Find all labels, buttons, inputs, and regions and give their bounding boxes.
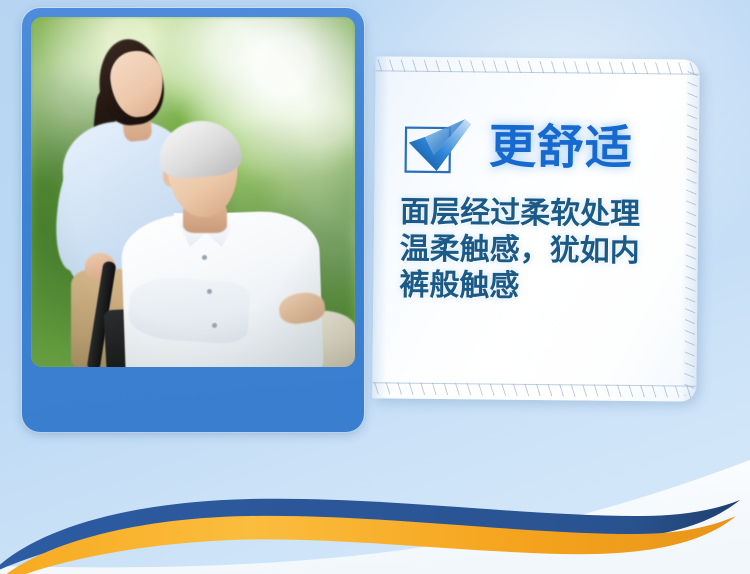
body-line: 温柔触感，犹如内 [400,231,680,271]
body-line: 裤般触感 [399,268,679,308]
headline-row: 更舒适 [401,115,682,180]
product-feature-banner: 更舒适 面层经过柔软处理 温柔触感，犹如内 裤般触感 [0,0,750,574]
headline-title: 更舒适 [489,123,633,172]
photo-vignette [31,17,355,367]
checkmark-box-icon [401,115,476,178]
body-line: 面层经过柔软处理 [400,195,680,235]
caregiver-and-elderly-man-photo [31,17,355,367]
photo-card [22,8,364,432]
torn-paper-panel: 更舒适 面层经过柔软处理 温柔触感，犹如内 裤般触感 [372,56,700,401]
body-copy: 面层经过柔软处理 温柔触感，犹如内 裤般触感 [399,195,680,308]
paper-content: 更舒适 面层经过柔软处理 温柔触感，犹如内 裤般触感 [372,56,700,401]
bottom-ribbon-wave [0,454,750,574]
